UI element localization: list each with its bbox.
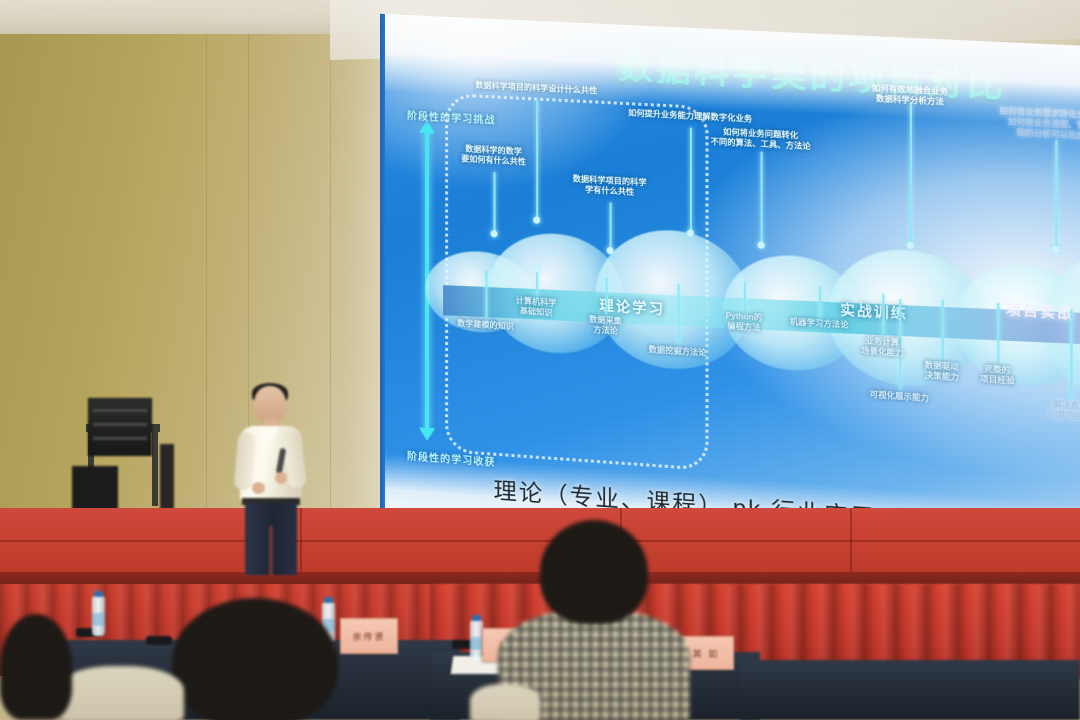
name-card: 余传贤 [340, 618, 398, 654]
audience-head [540, 520, 648, 624]
audience-head [172, 598, 338, 720]
conference-photo: 数据科学类的项目对比 阶段性的学习挑战 阶段性的学习收获 [0, 0, 1080, 720]
slide-node-label: 数据挖掘方法论 [649, 345, 707, 359]
wall-seam [206, 0, 207, 560]
projection-screen: 数据科学类的项目对比 阶段性的学习挑战 阶段性的学习收获 [385, 14, 1080, 574]
slide-node-label: 数据科学项目的科学学有什么共性 [573, 174, 647, 198]
slide-surface: 数据科学类的项目对比 阶段性的学习挑战 阶段性的学习收获 [385, 14, 1080, 574]
wall-seam [330, 0, 331, 560]
presenter [228, 386, 312, 576]
slide-node-label: 可视化展示能力 [870, 390, 929, 404]
slide-node-label: 数据采集方法论 [589, 315, 622, 337]
loudspeaker [88, 398, 152, 456]
slide-node-label: 数据科学的数学要如何有什么共性 [461, 144, 526, 168]
audience-table [740, 660, 1080, 720]
table-microphone-base [146, 636, 172, 645]
audience-head [0, 614, 72, 720]
slide-node-label: 机器学习方法论 [790, 317, 849, 331]
subwoofer [72, 466, 118, 514]
slide-node-label: 计算机科学基础知识 [516, 296, 557, 319]
audience-chair [470, 684, 540, 720]
slide-node-label: 解决真实问题的经验 [1049, 399, 1080, 423]
audience-chair [56, 666, 184, 720]
water-bottle [92, 596, 105, 636]
slide-node-label: 业务计算场景化能力 [861, 336, 903, 359]
slide-node-label: 如何提升业务能力理解数字化业务 [628, 108, 752, 124]
slide-node-label: 数据驱动决策能力 [925, 360, 959, 383]
slide-node-label: Python的编程方法 [726, 311, 763, 334]
slide-node-label: 完整的项目经验 [980, 364, 1014, 387]
slide-node-label: 数学建模的知识 [457, 319, 514, 333]
slide-node-label: 如何将业务问题转化不同的算法、工具、方法论 [711, 127, 811, 153]
